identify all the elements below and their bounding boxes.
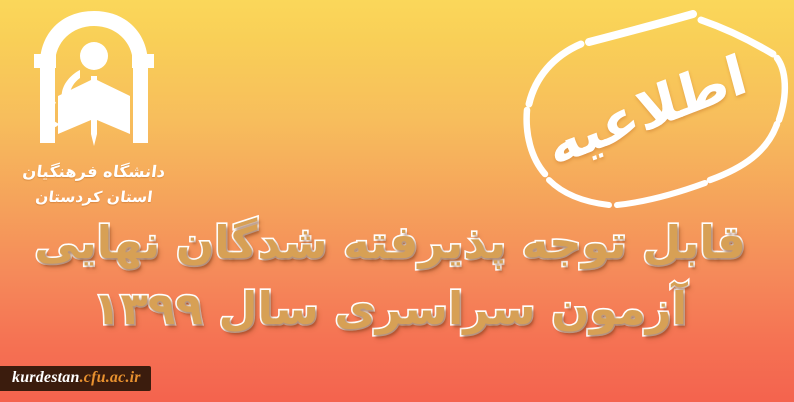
logo-university-name: دانشگاه فرهنگیان [11,162,177,181]
url-domain-suffix: .cfu.ac.ir [80,369,141,387]
headline-line-1: قابل توجه پذیرفته شدگان نهایی [10,212,770,274]
headline: قابل توجه پذیرفته شدگان نهایی آزمون سراس… [10,212,770,340]
announcement-badge: اطلاعیه [505,8,790,213]
announcement-banner: دانشگاه فرهنگیان استان کردستان اطل [0,0,794,402]
farhangian-university-emblem-icon [28,8,160,158]
headline-line-2: آزمون سراسری سال ۱۳۹۹ [10,278,770,340]
badge-label: اطلاعیه [542,47,752,175]
url-subdomain: kurdestan [12,369,80,387]
university-logo: دانشگاه فرهنگیان استان کردستان [14,8,174,223]
website-url-bar[interactable]: kurdestan.cfu.ac.ir [0,366,151,391]
badge-label-wrapper: اطلاعیه [505,8,790,213]
logo-province-name: استان کردستان [11,188,176,206]
